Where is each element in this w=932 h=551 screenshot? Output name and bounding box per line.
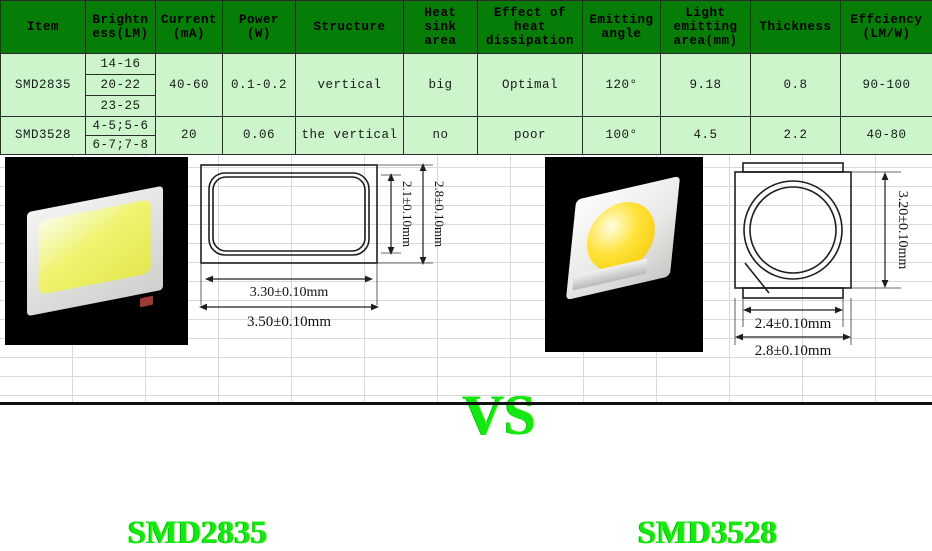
dim-label-width-outer: 2.8±0.10mm [755,343,832,359]
smd2835-led-render [27,199,163,303]
col-header-current: Current (mA) [156,1,223,54]
col-header-brightness-line2: ess(LM) [86,27,155,41]
col-header-heat-sink-area: Heat sink area [404,1,478,54]
cell-structure-0: vertical [296,54,404,117]
col-header-effect-line1: Effect of [478,6,582,20]
col-header-heatsink-line1: Heat [404,6,477,20]
smd3528-led-render [571,189,681,315]
table-header-row: Item Brightn ess(LM) Current (mA) Power … [1,1,932,54]
col-header-lightarea-line2: emitting [661,20,750,34]
col-header-current-line2: (mA) [156,27,222,41]
cell-item-0: SMD2835 [1,54,86,117]
col-header-angle-line2: angle [583,27,660,41]
cell-brightness-0: 14-16 20-22 23-25 [86,54,156,117]
col-header-heatsink-line2: sink [404,20,477,34]
smd3528-photo [545,157,703,352]
col-header-thickness: Thickness [751,1,841,54]
col-header-light-emitting-area: Light emitting area(mm) [661,1,751,54]
col-header-effect-line2: heat [478,20,582,34]
cell-efficiency-0: 90-100 [841,54,932,117]
cell-effect-0: Optimal [478,54,583,117]
col-header-power-line2: (W) [223,27,295,41]
col-header-angle-line1: Emitting [583,13,660,27]
table-row: SMD2835 14-16 20-22 23-25 40-60 0.1-0.2 … [1,54,932,117]
caption-smd3528: SMD3528 [638,517,777,550]
col-header-power-line1: Power [223,13,295,27]
caption-smd2835: SMD2835 [128,517,267,550]
brightness-sub-0-0: 14-16 [86,54,155,75]
dim-label-height-outer: 2.8±0.10mm [432,181,445,247]
cell-power-0: 0.1-0.2 [223,54,296,117]
col-header-power: Power (W) [223,1,296,54]
col-header-efficiency: Effciency (LM/W) [841,1,932,54]
dim-label-height-outer: 3.20±0.10mm [895,191,910,270]
cell-heatsink-0: big [404,54,478,117]
col-header-structure-line1: Structure [296,20,403,34]
col-header-item-line1: Item [1,20,85,34]
col-header-brightness-line1: Brightn [86,13,155,27]
vs-label: VS [463,387,536,444]
dim-label-width-inner: 2.4±0.10mm [755,316,832,332]
comparison-panel: 3.30±0.10mm 3.50±0.10mm 2.1±0.10mm 2.8±0… [0,149,932,405]
dim-label-width-outer: 3.50±0.10mm [247,314,331,330]
col-header-effect-heat-dissipation: Effect of heat dissipation [478,1,583,54]
col-header-efficiency-line2: (LM/W) [841,27,932,41]
dim-label-height-inner: 2.1±0.10mm [400,181,415,247]
comparison-sheet: Item Brightn ess(LM) Current (mA) Power … [0,0,932,405]
col-header-structure: Structure [296,1,404,54]
col-header-heatsink-line3: area [404,34,477,48]
smd2835-dimension-drawing: 3.30±0.10mm 3.50±0.10mm 2.1±0.10mm 2.8±0… [195,155,445,345]
col-header-lightarea-line1: Light [661,6,750,20]
brightness-sub-0-2: 23-25 [86,96,155,116]
smd2835-photo [5,157,188,345]
col-header-item: Item [1,1,86,54]
smd3528-dimension-drawing: 2.4±0.10mm 2.8±0.10mm 3.20±0.10mm [725,155,930,360]
col-header-lightarea-line3: area(mm) [661,34,750,48]
col-header-brightness: Brightn ess(LM) [86,1,156,54]
col-header-thickness-line1: Thickness [751,20,840,34]
col-header-current-line1: Current [156,13,222,27]
cell-current-0: 40-60 [156,54,223,117]
dim-label-width-inner: 3.30±0.10mm [250,285,329,300]
cell-angle-0: 120° [583,54,661,117]
cell-thickness-0: 0.8 [751,54,841,117]
col-header-effect-line3: dissipation [478,34,582,48]
led-anode-pad [140,296,153,308]
brightness-sub-1-0: 4-5;5-6 [86,117,155,136]
spec-table: Item Brightn ess(LM) Current (mA) Power … [0,0,932,155]
col-header-emitting-angle: Emitting angle [583,1,661,54]
col-header-efficiency-line1: Effciency [841,13,932,27]
cell-lightarea-0: 9.18 [661,54,751,117]
brightness-sub-0-1: 20-22 [86,75,155,96]
